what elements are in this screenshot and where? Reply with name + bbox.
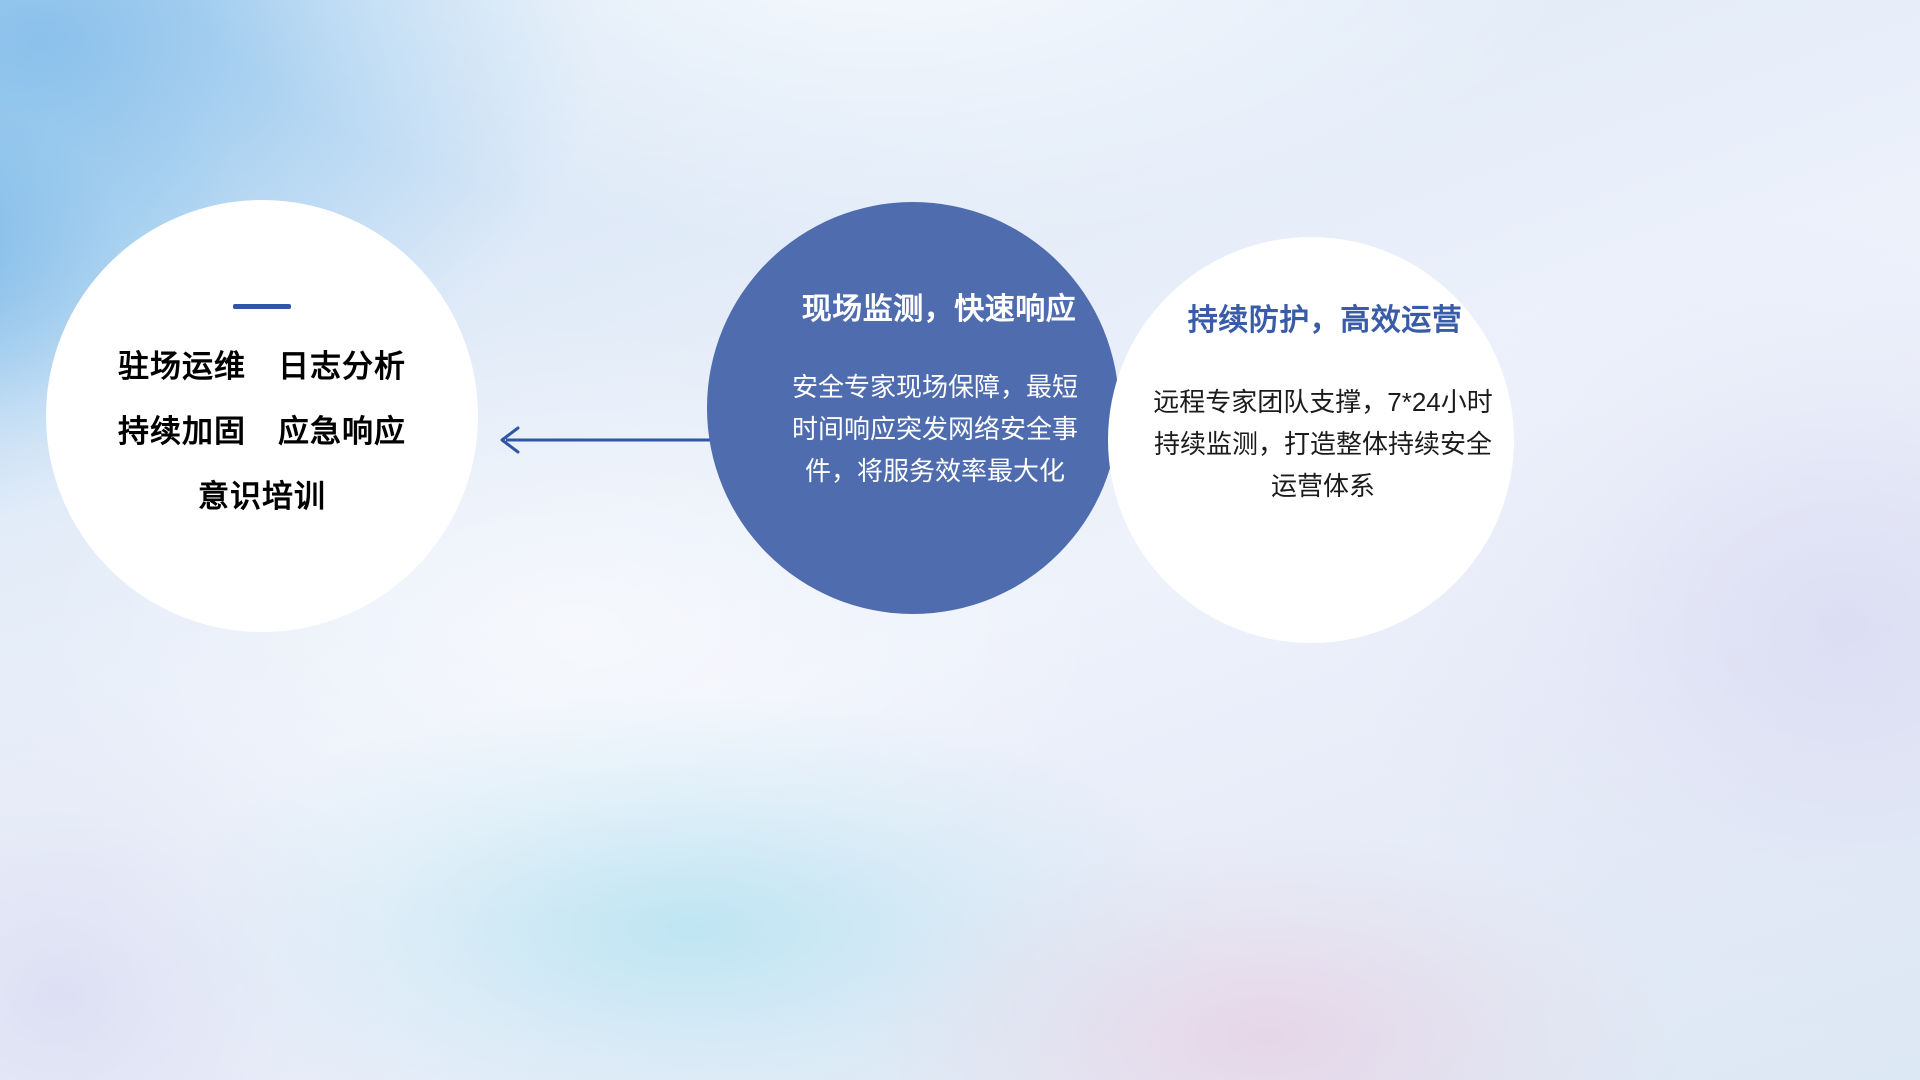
mid-card-body: 安全专家现场保障，最短时间响应突发网络安全事件，将服务效率最大化 <box>785 366 1085 492</box>
left-service-line-3: 意识培训 <box>198 481 326 512</box>
right-card-title: 持续防护，高效运营 <box>1188 295 1463 339</box>
left-service-line-2: 持续加固 应急响应 <box>118 416 406 447</box>
right-remote-circle[interactable]: 持续防护，高效运营 远程专家团队支撑，7*24小时持续监测，打造整体持续安全运营… <box>1108 237 1514 643</box>
left-service-line-1: 驻场运维 日志分析 <box>118 351 406 382</box>
mid-onsite-circle[interactable]: 现场监测，快速响应 安全专家现场保障，最短时间响应突发网络安全事件，将服务效率最… <box>707 202 1119 614</box>
flow-arrow <box>492 418 714 462</box>
left-service-circle[interactable]: 驻场运维 日志分析 持续加固 应急响应 意识培训 <box>46 200 478 632</box>
right-card-body: 远程专家团队支撑，7*24小时持续监测，打造整体持续安全运营体系 <box>1147 381 1499 507</box>
slide-canvas: 驻场运维 日志分析 持续加固 应急响应 意识培训 现场监测，快速响应 安全专家现… <box>0 0 1920 1080</box>
mid-card-title: 现场监测，快速响应 <box>802 284 1077 328</box>
divider-dash <box>233 304 291 309</box>
flow-arrow-icon <box>492 418 714 462</box>
